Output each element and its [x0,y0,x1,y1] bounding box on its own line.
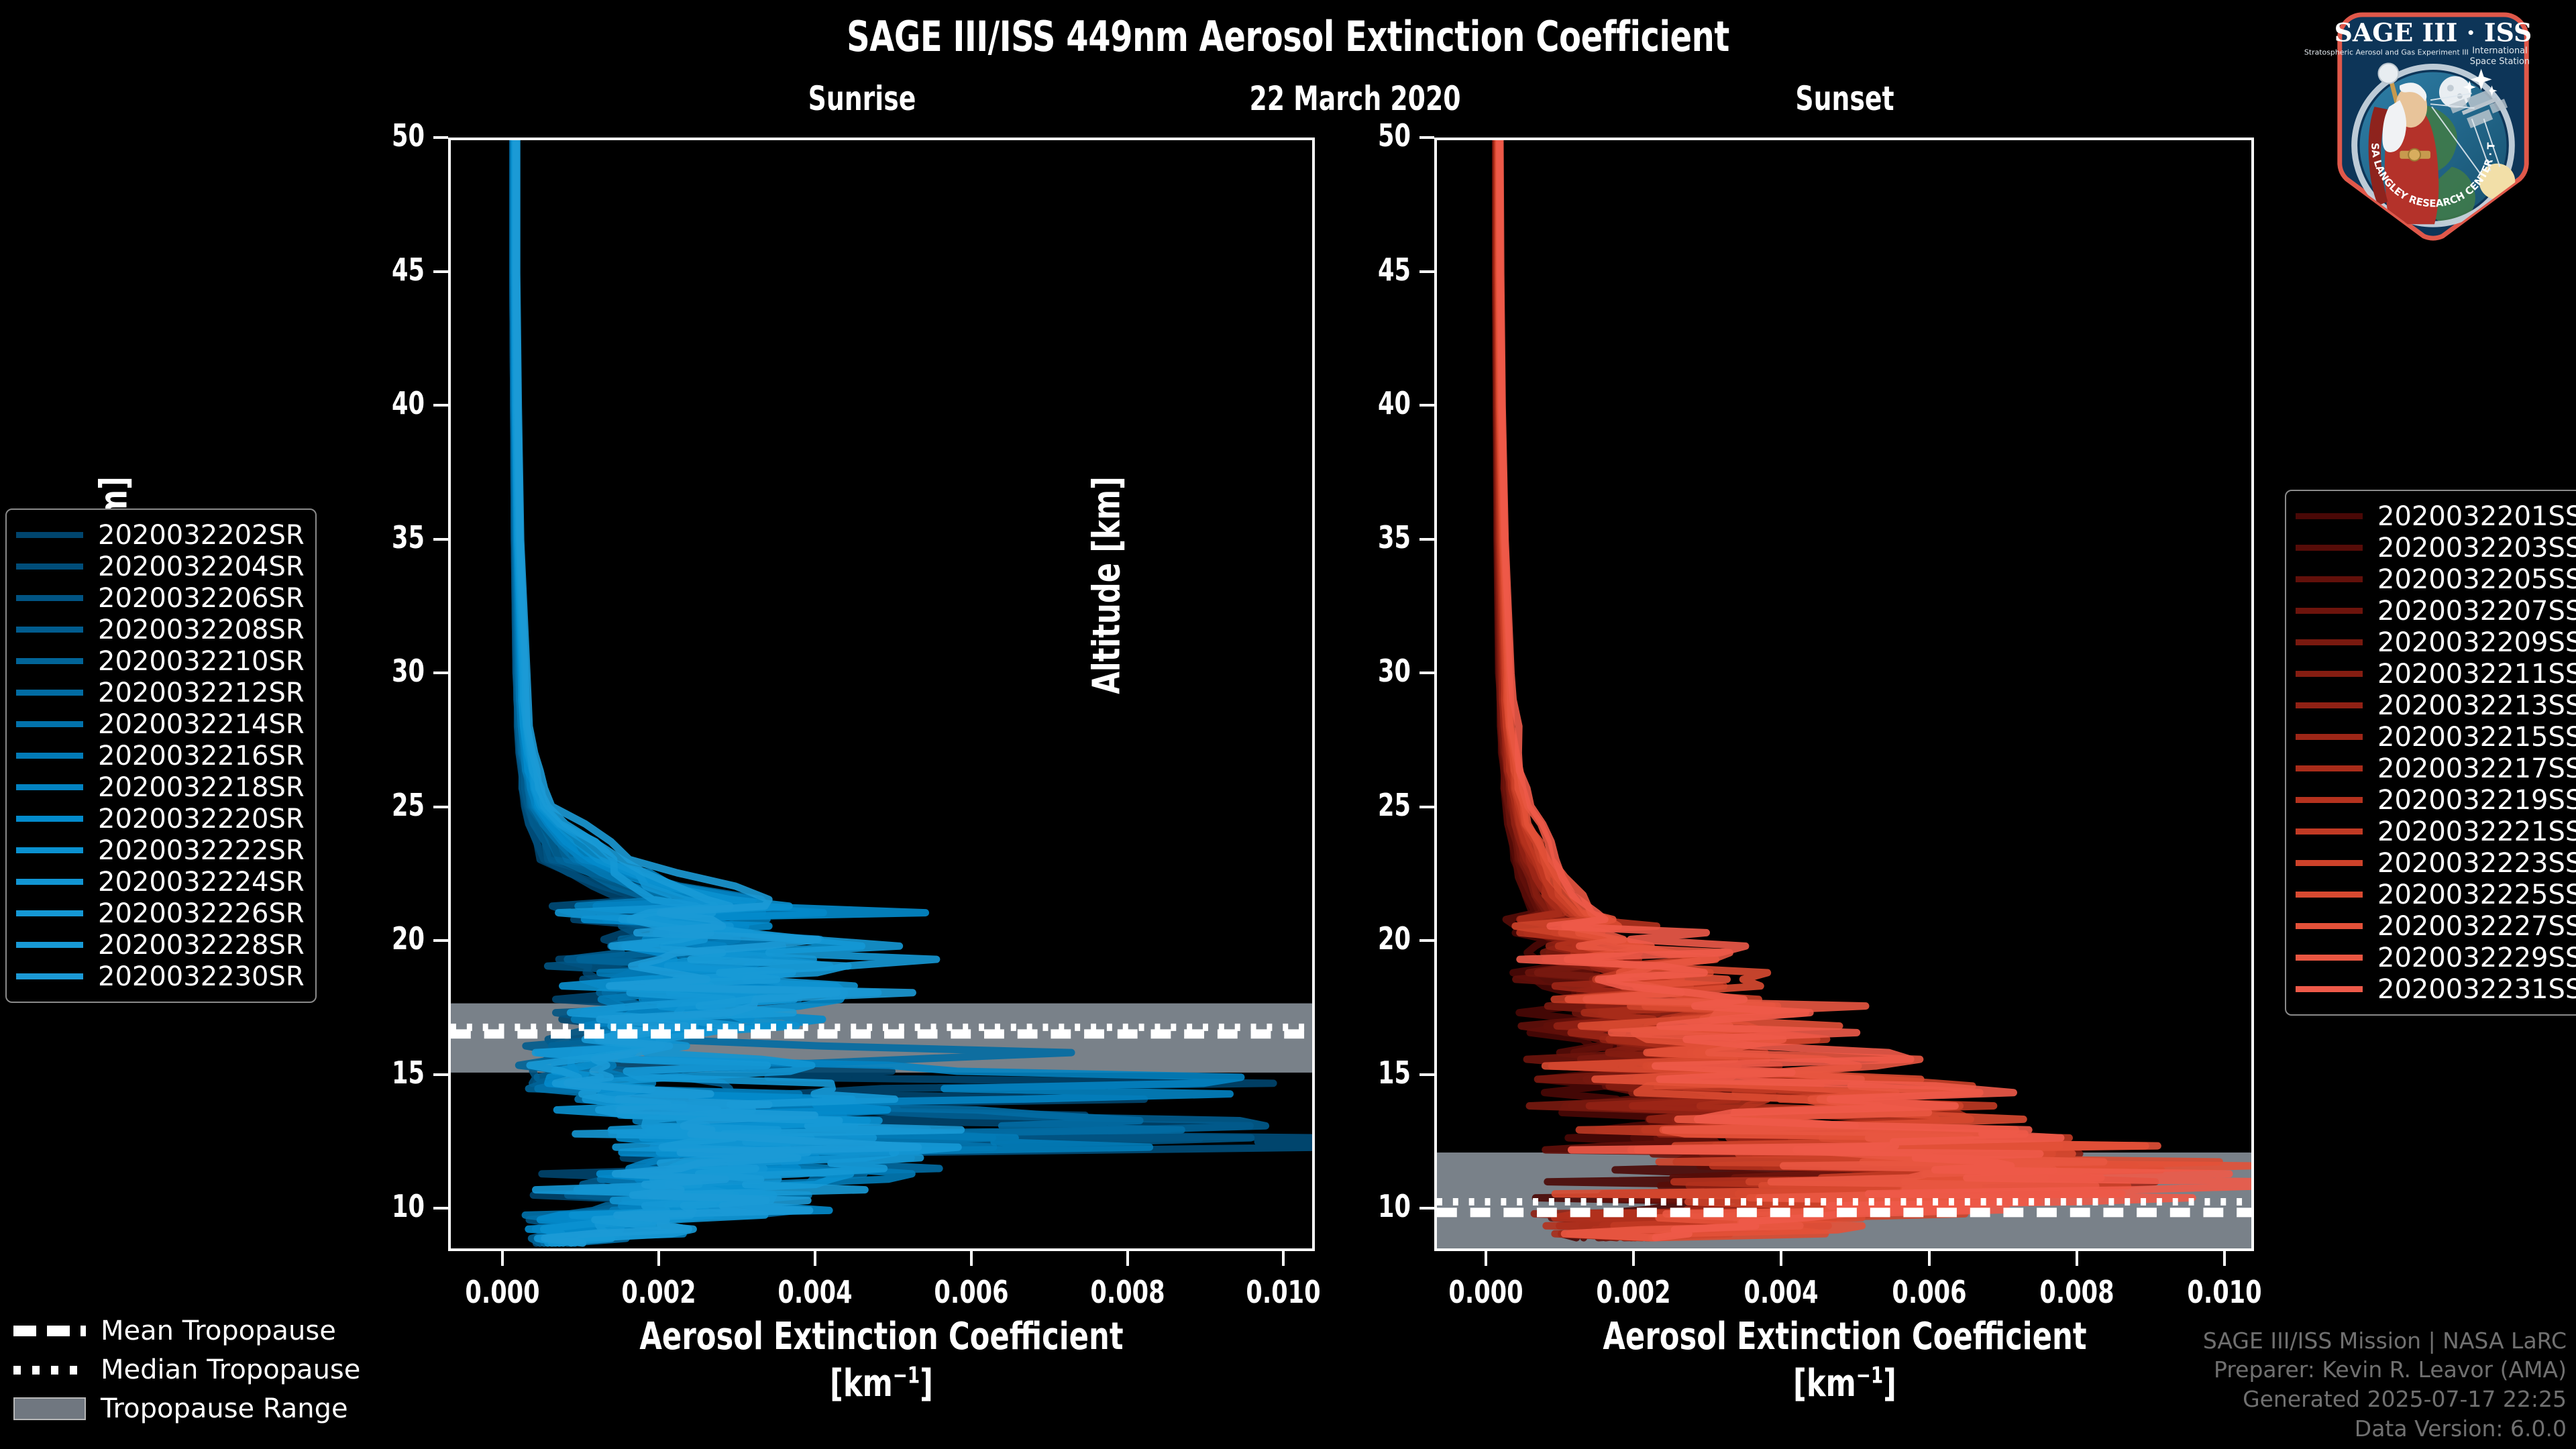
sunrise-legend-item[interactable]: 2020032230SR [16,961,305,992]
patch-subtitle-left: Stratospheric Aerosol and Gas Experiment… [2304,48,2469,57]
sunrise-legend-item[interactable]: 2020032220SR [16,803,305,835]
y-tick-label: 40 [1314,385,1411,421]
legend-color-swatch [16,784,83,790]
x-tick-label: 0.008 [1053,1274,1201,1310]
sunset-legend-item[interactable]: 2020032203SS [2296,532,2576,563]
y-tick-label: 50 [1314,117,1411,154]
x-tick-label: 0.002 [585,1274,733,1310]
legend-event-label: 2020032228SR [98,930,305,961]
y-tick-label: 20 [328,920,425,957]
date-subtitle: 22 March 2020 [1186,79,1524,118]
unit-exponent: −1 [1856,1362,1883,1389]
gray-band-icon [13,1397,86,1420]
y-tick-mark [433,404,448,407]
legend-event-label: 2020032203SS [2377,533,2576,563]
legend-color-swatch [2296,576,2363,582]
legend-item-tropopause-range: Tropopause Range [13,1389,360,1428]
legend-event-label: 2020032229SS [2377,943,2576,973]
x-tick-mark [2076,1251,2078,1266]
sunset-legend-item[interactable]: 2020032217SS [2296,753,2576,784]
legend-event-label: 2020032207SS [2377,596,2576,627]
unit-base: [km [830,1362,893,1405]
sunrise-x-axis-title: Aerosol Extinction Coefficient [506,1315,1256,1359]
legend-event-label: 2020032219SS [2377,785,2576,816]
y-tick-label: 35 [328,519,425,555]
legend-color-swatch [16,816,83,822]
sunset-legend-item[interactable]: 2020032227SS [2296,910,2576,942]
y-tick-label: 30 [328,653,425,689]
credit-mission: SAGE III/ISS Mission | NASA LaRC [2203,1326,2567,1356]
legend-event-label: 2020032223SS [2377,848,2576,879]
legend-event-label: 2020032206SR [98,583,305,614]
x-tick-mark [1485,1251,1487,1266]
sunset-legend-item[interactable]: 2020032231SS [2296,973,2576,1005]
sunrise-legend-item[interactable]: 2020032224SR [16,866,305,898]
sunrise-panel-title: Sunrise [693,79,1031,118]
sunset-x-axis-title: Aerosol Extinction Coefficient [1487,1315,2202,1359]
y-tick-mark [1419,939,1434,942]
x-tick-mark [970,1251,973,1266]
sunrise-legend-item[interactable]: 2020032222SR [16,835,305,866]
sunrise-legend-item[interactable]: 2020032218SR [16,771,305,803]
sunset-legend-item[interactable]: 2020032225SS [2296,879,2576,910]
sunrise-legend-item[interactable]: 2020032228SR [16,929,305,961]
patch-subtitle-right-2: Space Station [2470,57,2530,67]
sunrise-legend[interactable]: 2020032202SR2020032204SR2020032206SR2020… [5,508,317,1003]
legend-event-label: 2020032214SR [98,709,305,740]
sunset-legend-item[interactable]: 2020032207SS [2296,595,2576,627]
sunrise-profile-chart [451,140,1312,1248]
sunrise-legend-item[interactable]: 2020032214SR [16,708,305,740]
legend-color-swatch [2296,639,2363,645]
y-tick-label: 25 [1314,787,1411,823]
legend-label-range: Tropopause Range [101,1393,348,1424]
sunrise-legend-item[interactable]: 2020032212SR [16,677,305,708]
legend-color-swatch [2296,986,2363,992]
legend-event-label: 2020032227SS [2377,911,2576,942]
x-tick-mark [657,1251,660,1266]
sunset-legend[interactable]: 2020032201SS2020032203SS2020032205SS2020… [2285,490,2576,1016]
page-title: SAGE III/ISS 449nm Aerosol Extinction Co… [180,12,2396,61]
legend-event-label: 2020032210SR [98,646,305,677]
legend-item-median-tropopause: Median Tropopause [13,1350,360,1389]
x-tick-label: 0.000 [429,1274,577,1310]
sunset-legend-item[interactable]: 2020032223SS [2296,847,2576,879]
legend-color-swatch [2296,892,2363,898]
sunrise-legend-item[interactable]: 2020032204SR [16,551,305,582]
patch-moon-crater [2447,85,2454,91]
y-tick-mark [433,939,448,942]
legend-event-label: 2020032208SR [98,614,305,645]
unit-base: [km [1793,1362,1856,1405]
y-tick-label: 10 [328,1188,425,1224]
sunrise-plot-area [448,138,1315,1251]
legend-event-label: 2020032226SR [98,898,305,929]
sunset-legend-item[interactable]: 2020032209SS [2296,627,2576,658]
legend-color-swatch [2296,702,2363,708]
y-tick-label: 35 [1314,519,1411,555]
legend-color-swatch [16,658,83,664]
x-tick-label: 0.006 [1855,1274,2003,1310]
legend-color-swatch [2296,860,2363,866]
sunset-plot-area [1434,138,2254,1251]
y-tick-label: 50 [328,117,425,154]
patch-subtitle-right-1: International [2472,46,2527,56]
legend-color-swatch [2296,608,2363,614]
legend-color-swatch [16,910,83,916]
x-tick-label: 0.006 [897,1274,1045,1310]
y-tick-mark [1419,404,1434,407]
legend-event-label: 2020032231SS [2377,974,2576,1005]
sunset-legend-item[interactable]: 2020032229SS [2296,942,2576,973]
patch-title: SAGE III · ISS [2334,18,2532,48]
legend-color-swatch [16,690,83,696]
sunrise-legend-item[interactable]: 2020032216SR [16,740,305,771]
y-tick-mark [433,806,448,808]
y-tick-label: 10 [1314,1188,1411,1224]
legend-event-label: 2020032217SS [2377,753,2576,784]
y-tick-mark [433,538,448,541]
x-tick-mark [1632,1251,1635,1266]
y-tick-label: 40 [328,385,425,421]
dotted-line-icon [13,1366,86,1375]
x-tick-mark [814,1251,816,1266]
legend-color-swatch [16,847,83,853]
legend-color-swatch [16,595,83,601]
legend-color-swatch [16,627,83,633]
legend-event-label: 2020032209SS [2377,627,2576,658]
legend-color-swatch [2296,513,2363,519]
credit-generated: Generated 2025-07-17 22:25 [2203,1385,2567,1414]
legend-event-label: 2020032211SS [2377,659,2576,690]
tropopause-legend: Mean Tropopause Median Tropopause Tropop… [13,1311,360,1428]
sunset-legend-item[interactable]: 2020032201SS [2296,500,2576,532]
y-tick-label: 45 [328,252,425,288]
sunset-legend-item[interactable]: 2020032211SS [2296,658,2576,690]
y-tick-mark [1419,806,1434,808]
y-tick-label: 30 [1314,653,1411,689]
y-tick-mark [433,270,448,273]
y-tick-mark [433,136,448,139]
sunset-legend-item[interactable]: 2020032219SS [2296,784,2576,816]
sunrise-legend-item[interactable]: 2020032206SR [16,582,305,614]
legend-event-label: 2020032204SR [98,551,305,582]
legend-color-swatch [2296,671,2363,677]
sunrise-x-axis-unit: [km−1] [506,1362,1256,1405]
legend-event-label: 2020032222SR [98,835,305,866]
legend-event-label: 2020032230SR [98,961,305,992]
legend-item-mean-tropopause: Mean Tropopause [13,1311,360,1350]
legend-event-label: 2020032224SR [98,867,305,898]
unit-exponent: −1 [893,1362,920,1389]
credits-block: SAGE III/ISS Mission | NASA LaRC Prepare… [2203,1326,2567,1444]
y-tick-label: 20 [1314,920,1411,957]
legend-color-swatch [2296,955,2363,961]
legend-event-label: 2020032213SS [2377,690,2576,721]
legend-color-swatch [16,753,83,759]
sunrise-legend-item[interactable]: 2020032226SR [16,898,305,929]
y-tick-label: 25 [328,787,425,823]
x-tick-mark [1126,1251,1129,1266]
credit-data-version: Data Version: 6.0.0 [2203,1414,2567,1444]
dashed-line-icon [13,1326,86,1336]
unit-close: ] [1883,1362,1896,1405]
sunset-panel-title: Sunset [1676,79,2014,118]
y-tick-mark [1419,136,1434,139]
sunset-x-axis-unit: [km−1] [1487,1362,2202,1405]
x-tick-label: 0.000 [1412,1274,1560,1310]
legend-color-swatch [16,973,83,979]
legend-event-label: 2020032201SS [2377,501,2576,532]
sunrise-legend-item[interactable]: 2020032210SR [16,645,305,677]
sage-iii-iss-mission-patch: SAGE III · ISS Stratospheric Aerosol and… [2300,7,2567,248]
y-tick-mark [1419,270,1434,273]
y-tick-mark [433,1073,448,1076]
sunset-legend-item[interactable]: 2020032221SS [2296,816,2576,847]
x-tick-mark [1780,1251,1782,1266]
sunrise-legend-item[interactable]: 2020032202SR [16,519,305,551]
legend-color-swatch [2296,797,2363,803]
legend-color-swatch [2296,545,2363,551]
x-tick-label: 0.002 [1560,1274,1708,1310]
legend-event-label: 2020032225SS [2377,879,2576,910]
y-tick-label: 15 [328,1055,425,1091]
y-tick-mark [1419,672,1434,674]
x-tick-mark [501,1251,504,1266]
legend-color-swatch [2296,765,2363,771]
legend-color-swatch [16,721,83,727]
sunset-y-axis-title: Altitude [km] [1085,453,1129,718]
sunset-legend-item[interactable]: 2020032215SS [2296,721,2576,753]
y-tick-mark [1419,1073,1434,1076]
y-tick-mark [433,1207,448,1210]
legend-color-swatch [16,879,83,885]
legend-event-label: 2020032212SR [98,678,305,708]
legend-label-mean: Mean Tropopause [101,1316,336,1346]
credit-preparer: Preparer: Kevin R. Leavor (AMA) [2203,1355,2567,1385]
sunset-legend-item[interactable]: 2020032205SS [2296,563,2576,595]
x-tick-label: 0.004 [1707,1274,1856,1310]
y-tick-mark [1419,538,1434,541]
y-tick-label: 45 [1314,252,1411,288]
legend-event-label: 2020032221SS [2377,816,2576,847]
x-tick-label: 0.010 [2150,1274,2298,1310]
legend-color-swatch [2296,734,2363,740]
legend-color-swatch [16,532,83,538]
sunset-legend-item[interactable]: 2020032213SS [2296,690,2576,721]
sunset-profile-chart [1437,140,2251,1248]
legend-color-swatch [16,563,83,570]
legend-event-label: 2020032202SR [98,520,305,551]
legend-event-label: 2020032205SS [2377,564,2576,595]
x-tick-label: 0.004 [741,1274,890,1310]
y-tick-label: 15 [1314,1055,1411,1091]
x-tick-label: 0.010 [1210,1274,1358,1310]
unit-close: ] [920,1362,933,1405]
y-tick-mark [433,672,448,674]
legend-color-swatch [2296,923,2363,929]
legend-event-label: 2020032218SR [98,772,305,803]
legend-color-swatch [2296,828,2363,835]
y-tick-mark [1419,1207,1434,1210]
x-tick-mark [2223,1251,2226,1266]
legend-event-label: 2020032216SR [98,741,305,771]
legend-label-median: Median Tropopause [101,1354,360,1385]
legend-event-label: 2020032220SR [98,804,305,835]
legend-event-label: 2020032215SS [2377,722,2576,753]
legend-color-swatch [16,942,83,948]
sunrise-legend-item[interactable]: 2020032208SR [16,614,305,645]
x-tick-label: 0.008 [2002,1274,2151,1310]
x-tick-mark [1282,1251,1285,1266]
x-tick-mark [1928,1251,1931,1266]
